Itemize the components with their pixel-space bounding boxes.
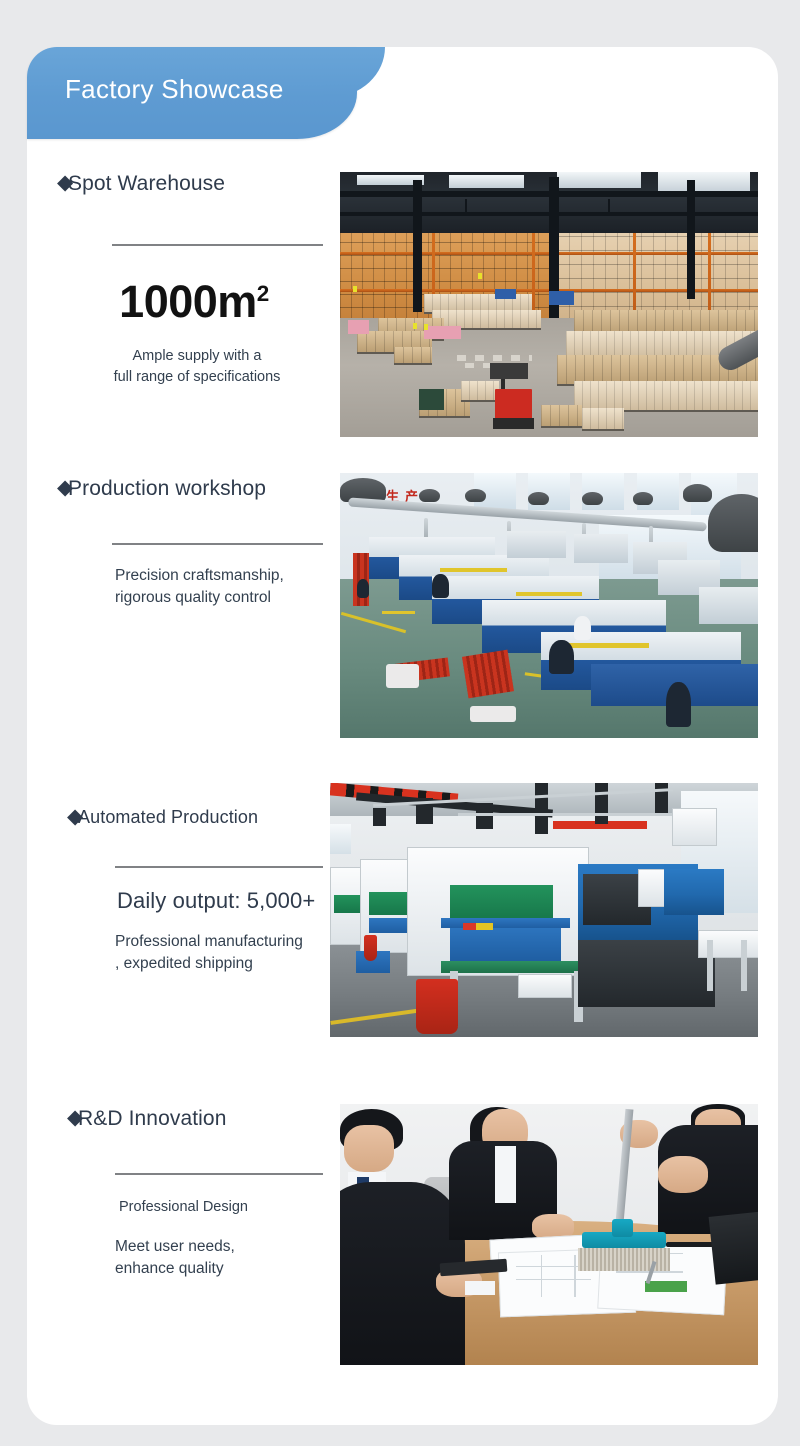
header-banner: Factory Showcase bbox=[27, 47, 357, 139]
section-1-heading-row: Spot Warehouse bbox=[57, 172, 337, 196]
rd-innovation-photo bbox=[340, 1104, 758, 1365]
section-4-heading: R&D Innovation bbox=[78, 1107, 226, 1131]
section-1-stat-unit: 2 bbox=[257, 281, 269, 306]
section-1-divider bbox=[112, 244, 323, 246]
header-banner-curve bbox=[323, 47, 385, 97]
production-workshop-photo: 生产 bbox=[340, 473, 758, 738]
page-title: Factory Showcase bbox=[65, 74, 284, 105]
section-4-divider bbox=[115, 1173, 323, 1175]
warehouse-scene bbox=[340, 172, 758, 437]
section-4-heading-row: R&D Innovation bbox=[67, 1107, 357, 1131]
section-2-heading: Production workshop bbox=[68, 477, 266, 501]
workshop-scene: 生产 bbox=[340, 473, 758, 738]
section-3-description: Professional manufacturing , expedited s… bbox=[115, 931, 357, 976]
section-2-heading-row: Production workshop bbox=[57, 477, 337, 501]
section-3-heading: Automated Production bbox=[78, 807, 258, 828]
section-2-text: Production workshop Precision craftsmans… bbox=[57, 477, 337, 610]
section-4-description: Meet user needs, enhance quality bbox=[115, 1236, 357, 1281]
section-1-heading: Spot Warehouse bbox=[68, 172, 225, 196]
section-2-divider bbox=[112, 543, 323, 545]
meeting-scene bbox=[340, 1104, 758, 1365]
section-4-subtitle: Professional Design bbox=[119, 1197, 357, 1218]
section-1-stat: 1000m2 bbox=[57, 279, 337, 324]
automated-production-photo bbox=[330, 783, 758, 1037]
injection-molding-scene bbox=[330, 783, 758, 1037]
section-3-heading-row: Automated Production bbox=[67, 807, 357, 828]
factory-showcase-card: Factory Showcase Spot Warehouse 1000m2 A… bbox=[27, 47, 778, 1425]
section-3-text: Automated Production Daily output: 5,000… bbox=[67, 807, 357, 976]
section-1-description: Ample supply with a full range of specif… bbox=[57, 346, 337, 388]
section-4-text: R&D Innovation Professional Design Meet … bbox=[67, 1107, 357, 1281]
section-3-divider bbox=[115, 866, 323, 868]
section-1-text: Spot Warehouse 1000m2 Ample supply with … bbox=[57, 172, 337, 388]
spot-warehouse-photo bbox=[340, 172, 758, 437]
section-3-stat: Daily output: 5,000+ bbox=[117, 888, 357, 914]
section-2-description: Precision craftsmanship, rigorous qualit… bbox=[115, 565, 337, 610]
